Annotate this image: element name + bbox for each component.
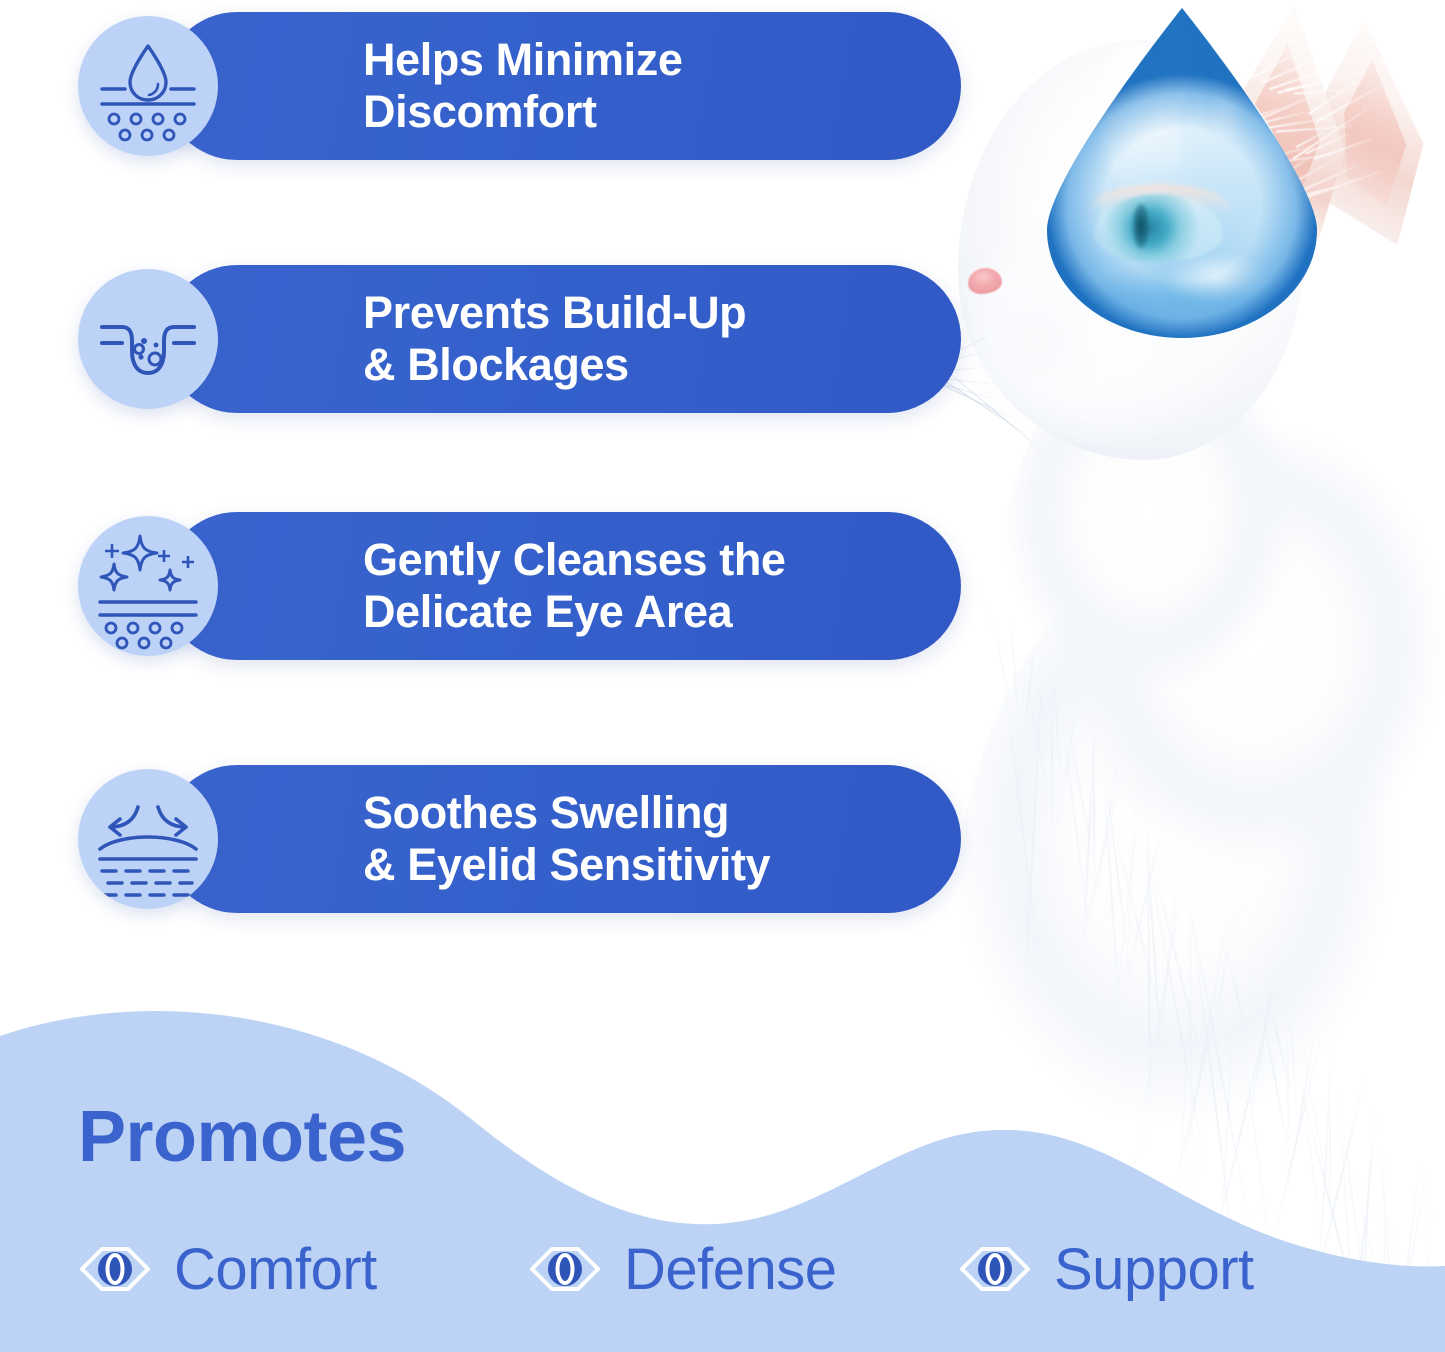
feature-row-gently-cleanses-delicate-eye-area[interactable]: Gently Cleanses the Delicate Eye Area	[78, 512, 962, 660]
promote-item-support[interactable]: Support	[958, 1236, 1358, 1303]
feature-pill[interactable]: Soothes Swelling & Eyelid Sensitivity	[163, 765, 961, 913]
feature-label: Helps Minimize Discomfort	[363, 34, 682, 138]
infographic-canvas: Helps Minimize Discomfort	[0, 0, 1445, 1352]
promote-label: Comfort	[174, 1236, 377, 1303]
promote-item-defense[interactable]: Defense	[528, 1236, 958, 1303]
promotes-list: Comfort Defense	[78, 1228, 1368, 1310]
clogged-pore-icon	[78, 269, 218, 409]
feature-pill[interactable]: Helps Minimize Discomfort	[163, 12, 961, 160]
eye-icon	[958, 1241, 1032, 1297]
feature-label: Soothes Swelling & Eyelid Sensitivity	[363, 787, 770, 891]
promotes-heading: Promotes	[78, 1096, 406, 1178]
feature-row-prevents-build-up-blockages[interactable]: Prevents Build-Up & Blockages	[78, 265, 962, 413]
droplet-on-skin-icon	[78, 16, 218, 156]
eye-icon	[78, 1241, 152, 1297]
feature-label: Gently Cleanses the Delicate Eye Area	[363, 534, 786, 638]
promote-item-comfort[interactable]: Comfort	[78, 1236, 528, 1303]
promote-label: Support	[1054, 1236, 1254, 1303]
eye-icon	[528, 1241, 602, 1297]
feature-label: Prevents Build-Up & Blockages	[363, 287, 746, 391]
sparkle-clean-skin-icon	[78, 516, 218, 656]
feature-pill[interactable]: Gently Cleanses the Delicate Eye Area	[163, 512, 961, 660]
feature-row-soothes-swelling-eyelid-sensitivity[interactable]: Soothes Swelling & Eyelid Sensitivity	[78, 765, 962, 913]
feature-row-helps-minimize-discomfort[interactable]: Helps Minimize Discomfort	[78, 12, 962, 160]
soothing-skin-arrows-icon	[78, 769, 218, 909]
promote-label: Defense	[624, 1236, 837, 1303]
feature-pill[interactable]: Prevents Build-Up & Blockages	[163, 265, 961, 413]
